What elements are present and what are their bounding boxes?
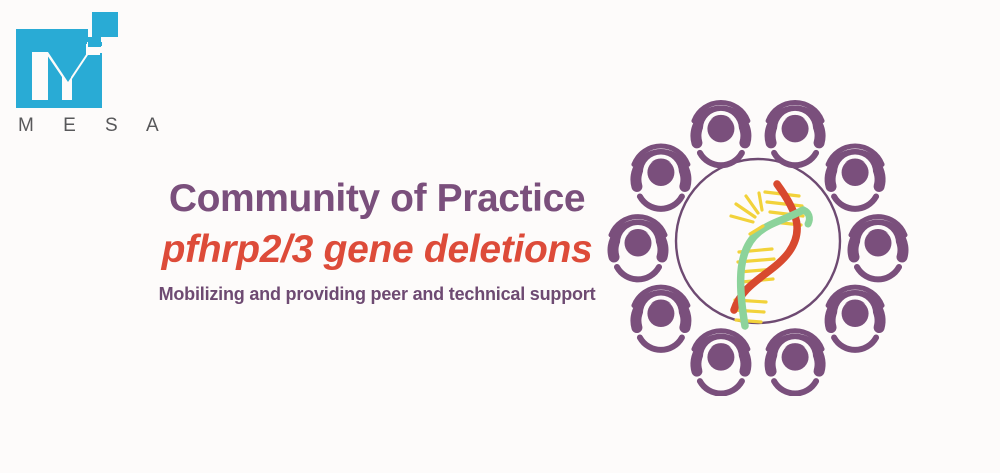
headline-block: Community of Practice pfhrp2/3 gene dele… (72, 176, 682, 305)
community-dna-circle-icon (603, 86, 913, 396)
mesa-m-square-logo-icon (16, 12, 120, 108)
person-icon-10 (694, 102, 748, 165)
page-title: Community of Practice (72, 176, 682, 221)
person-icon-5 (768, 331, 822, 394)
person-icon-6 (694, 331, 748, 394)
person-icon-2 (828, 146, 882, 209)
tagline: Mobilizing and providing peer and techni… (72, 284, 682, 305)
person-icon-9 (634, 146, 688, 209)
person-icon-7 (634, 287, 688, 350)
mesa-wordmark: M E S A (18, 116, 171, 135)
mesa-logo[interactable]: M E S A (16, 12, 136, 142)
inner-circle (676, 159, 840, 323)
person-icon-3 (851, 217, 905, 280)
page-subtitle-emphasis: pfhrp2/3 gene deletions (72, 227, 682, 272)
person-icon-4 (828, 287, 882, 350)
person-icon-8 (611, 217, 665, 280)
banner-root: M E S A Community of Practice pfhrp2/3 g… (0, 0, 1000, 473)
person-icon-1 (768, 102, 822, 165)
